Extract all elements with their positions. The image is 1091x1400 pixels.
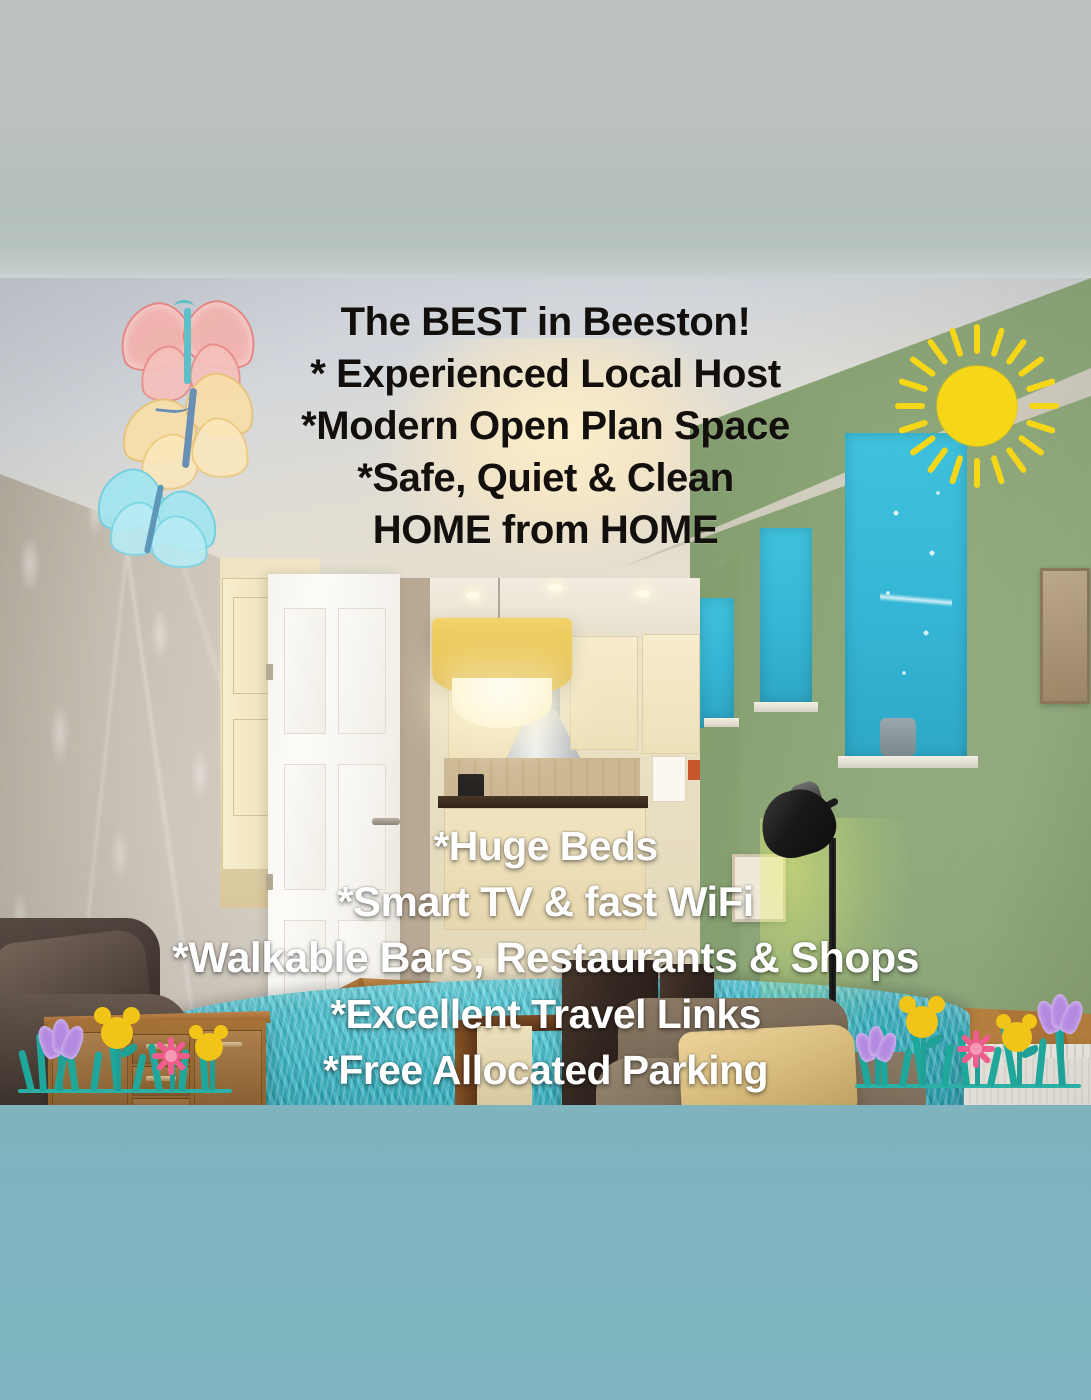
kitchen-spotlight [548, 584, 562, 591]
headline-line-4: *Safe, Quiet & Clean [0, 452, 1091, 504]
alcove-sill-large [838, 756, 978, 768]
headline-line-1: The BEST in Beeston! [0, 296, 1091, 348]
kitchen-notice [652, 756, 686, 802]
feature-line-3: *Walkable Bars, Restaurants & Shops [0, 930, 1091, 986]
pendant-light-cord [498, 578, 500, 618]
feature-line-2: *Smart TV & fast WiFi [0, 874, 1091, 930]
kitchen-spotlight [636, 590, 650, 597]
feature-line-4: *Excellent Travel Links [0, 986, 1091, 1042]
kitchen-worktop [438, 796, 648, 808]
features-text-block: *Huge Beds *Smart TV & fast WiFi *Walkab… [0, 818, 1091, 1098]
door-hinge [266, 664, 273, 680]
headline-line-3: *Modern Open Plan Space [0, 400, 1091, 452]
alcove-window-small [700, 598, 734, 720]
door-panel [284, 608, 326, 734]
kitchen-wall-cabinet [642, 634, 700, 754]
alcove-sill-medium [754, 702, 818, 712]
headline-line-5: HOME from HOME [0, 504, 1091, 556]
feature-line-5: *Free Allocated Parking [0, 1042, 1091, 1098]
kitchen-spotlight [466, 592, 480, 599]
top-background-panel [0, 0, 1091, 278]
headline-line-2: * Experienced Local Host [0, 348, 1091, 400]
kitchen-wall-cabinet [570, 636, 638, 750]
wall-art-right [1040, 568, 1090, 704]
bottom-background-panel [0, 1103, 1091, 1400]
alcove-vase [880, 718, 916, 758]
fire-exit-sign [688, 760, 700, 780]
poster-canvas: The BEST in Beeston! * Experienced Local… [0, 0, 1091, 1400]
headline-text-block: The BEST in Beeston! * Experienced Local… [0, 296, 1091, 556]
door-panel [338, 608, 386, 734]
feature-line-1: *Huge Beds [0, 818, 1091, 874]
pendant-light-bulb [452, 678, 552, 728]
